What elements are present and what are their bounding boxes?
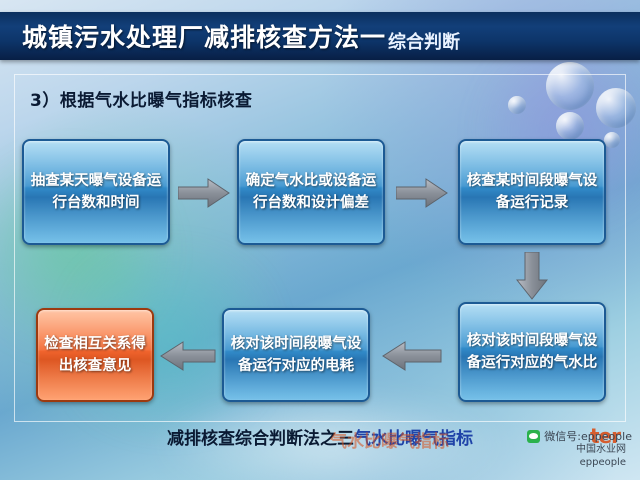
flow-node-1-label: 抽查某天曝气设备运行台数和时间 bbox=[30, 170, 162, 215]
watermark-brand-line1: 中国水业网 bbox=[576, 444, 626, 457]
watermark-center-text: 气水比曝气指标 bbox=[330, 427, 449, 452]
watermark-brand-line2: eppeople bbox=[576, 457, 626, 470]
footer-prefix: 减排核查综合判断法之三 bbox=[167, 429, 354, 449]
watermark-wechat: 微信号:eppeople bbox=[527, 428, 632, 444]
flow-node-2-label: 确定气水比或设备运行台数和设计偏差 bbox=[245, 170, 377, 215]
flow-node-4-label: 核对该时间段曝气设备运行对应的气水比 bbox=[466, 330, 598, 375]
wechat-icon bbox=[527, 430, 540, 443]
title-banner: 城镇污水处理厂减排核查方法一 综合判断 bbox=[0, 12, 640, 60]
arrow-right-icon bbox=[178, 178, 230, 208]
flow-node-3-label: 核查某时间段曝气设备运行记录 bbox=[466, 170, 598, 215]
flow-node-3: 核查某时间段曝气设备运行记录 bbox=[458, 139, 606, 245]
arrow-right-icon bbox=[396, 178, 448, 208]
flow-node-4: 核对该时间段曝气设备运行对应的气水比 bbox=[458, 302, 606, 402]
page-title: 城镇污水处理厂减排核查方法一 bbox=[0, 18, 386, 54]
watermark-wechat-label: 微信号:eppeople bbox=[544, 428, 632, 444]
flow-node-5: 核对该时间段曝气设备运行对应的电耗 bbox=[222, 308, 370, 402]
section-heading: 3）根据气水比曝气指标核查 bbox=[30, 86, 252, 111]
arrow-down-icon bbox=[516, 252, 548, 300]
flow-node-2: 确定气水比或设备运行台数和设计偏差 bbox=[237, 139, 385, 245]
arrow-left-icon bbox=[382, 341, 442, 371]
flow-node-1: 抽查某天曝气设备运行台数和时间 bbox=[22, 139, 170, 245]
page-subtitle: 综合判断 bbox=[386, 28, 460, 60]
watermark-brand: 中国水业网 eppeople bbox=[576, 444, 626, 469]
flow-node-5-label: 核对该时间段曝气设备运行对应的电耗 bbox=[230, 333, 362, 378]
flow-node-6-label: 检查相互关系得出核查意见 bbox=[44, 333, 146, 378]
slide-canvas: 城镇污水处理厂减排核查方法一 综合判断 3）根据气水比曝气指标核查 抽查某天曝气… bbox=[0, 0, 640, 480]
flow-node-6: 检查相互关系得出核查意见 bbox=[36, 308, 154, 402]
arrow-left-icon bbox=[160, 341, 216, 371]
